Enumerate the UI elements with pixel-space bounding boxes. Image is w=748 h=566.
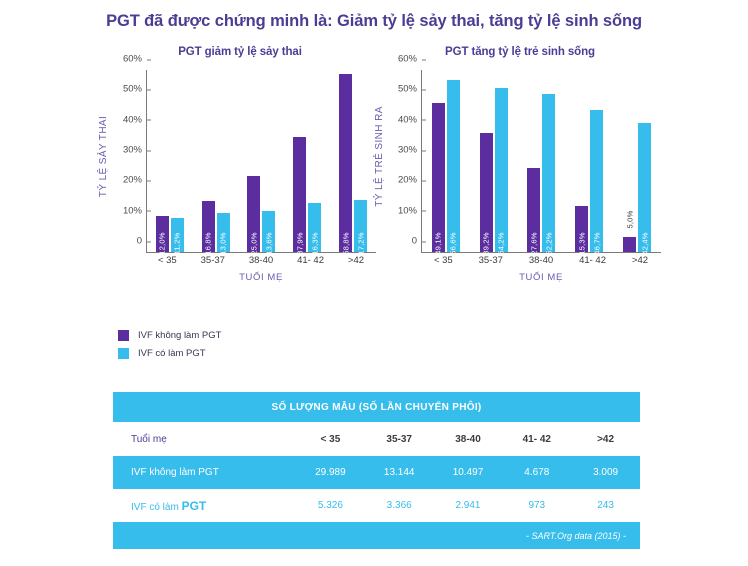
y-tick-60: 60% bbox=[398, 54, 422, 65]
legend-swatch-icon-purple bbox=[118, 330, 129, 341]
cell-age-4: >42 bbox=[571, 434, 640, 445]
miscarriage-x-label-4: >42 bbox=[348, 255, 364, 266]
livebirth-x-label-0: < 35 bbox=[434, 255, 453, 266]
row-label-pgt: IVF có làm PGT bbox=[113, 499, 296, 513]
miscarriage-group-0: 12,0%11,2% bbox=[156, 70, 184, 252]
miscarriage-bar-pgt-3: 16,3% bbox=[308, 203, 321, 252]
miscarriage-x-label-2: 38-40 bbox=[249, 255, 273, 266]
livebirth-x-label-4: >42 bbox=[632, 255, 648, 266]
cell-pgt-0: 5.326 bbox=[296, 500, 365, 511]
bar-group-container-miscarriage: 12,0%11,2%16,8%13,0%25,0%13,6%37,9%16,3%… bbox=[147, 70, 376, 252]
miscarriage-bar-no-pgt-3: 37,9% bbox=[293, 137, 306, 252]
livebirth-bar-pgt-4: 42,4% bbox=[638, 123, 651, 252]
livebirth-value-label-no-pgt-1: 39,2% bbox=[482, 232, 491, 255]
cell-no-pgt-1: 13.144 bbox=[365, 467, 434, 478]
livebirth-bar-pgt-0: 56,6% bbox=[447, 80, 460, 252]
legend-label-pgt: IVF có làm PGT bbox=[138, 348, 206, 359]
legend-label-no-pgt: IVF không làm PGT bbox=[138, 330, 221, 341]
sample-size-table: SỐ LƯỢNG MẪU (SỐ LẦN CHUYỂN PHÔI) Tuổi m… bbox=[113, 392, 640, 549]
miscarriage-bar-pgt-4: 17,2% bbox=[354, 200, 367, 252]
livebirth-bar-pgt-3: 46,7% bbox=[590, 110, 603, 252]
livebirth-bar-no-pgt-3: 15,3% bbox=[575, 206, 588, 252]
y-tick-0: 0 bbox=[412, 236, 422, 247]
miscarriage-value-label-pgt-0: 11,2% bbox=[173, 233, 182, 255]
livebirth-bar-no-pgt-0: 49,1% bbox=[432, 103, 445, 252]
y-tick-0: 0 bbox=[137, 236, 147, 247]
livebirth-value-label-no-pgt-0: 49,1% bbox=[434, 232, 443, 255]
legend-swatch-icon-cyan bbox=[118, 348, 129, 359]
cell-pgt-2: 2.941 bbox=[434, 500, 503, 511]
livebirth-value-label-pgt-1: 54,2% bbox=[497, 232, 506, 255]
cell-age-3: 41- 42 bbox=[502, 434, 571, 445]
livebirth-group-4: 5,0%42,4% bbox=[623, 70, 651, 252]
cell-no-pgt-3: 4.678 bbox=[502, 467, 571, 478]
cell-age-1: 35-37 bbox=[365, 434, 434, 445]
livebirth-value-label-no-pgt-3: 15,3% bbox=[577, 232, 586, 255]
y-tick-10: 10% bbox=[398, 205, 422, 216]
cell-no-pgt-4: 3.009 bbox=[571, 467, 640, 478]
livebirth-value-label-pgt-0: 56,6% bbox=[449, 232, 458, 255]
bar-group-container-livebirth: 49,1%56,6%39,2%54,2%27,6%52,2%15,3%46,7%… bbox=[422, 70, 661, 252]
cell-pgt-3: 973 bbox=[502, 500, 571, 511]
cell-age-0: < 35 bbox=[296, 434, 365, 445]
table-source-footer: - SART.Org data (2015) - bbox=[113, 522, 640, 549]
cell-no-pgt-2: 10.497 bbox=[434, 467, 503, 478]
miscarriage-value-label-pgt-3: 16,3% bbox=[310, 232, 319, 255]
x-axis-title-livebirth: TUỔI MẸ bbox=[421, 272, 661, 283]
y-tick-50: 50% bbox=[398, 84, 422, 95]
miscarriage-bar-pgt-2: 13,6% bbox=[262, 211, 275, 252]
cell-pgt-1: 3.366 bbox=[365, 500, 434, 511]
row-label-pgt-prefix: IVF có làm bbox=[131, 502, 182, 513]
livebirth-bar-no-pgt-1: 39,2% bbox=[480, 133, 493, 252]
livebirth-x-label-3: 41- 42 bbox=[579, 255, 606, 266]
x-axis-title-miscarriage: TUỔI MẸ bbox=[146, 272, 376, 283]
miscarriage-bar-pgt-1: 13,0% bbox=[217, 213, 230, 252]
miscarriage-group-2: 25,0%13,6% bbox=[247, 70, 275, 252]
cell-age-2: 38-40 bbox=[434, 434, 503, 445]
x-tick-labels-miscarriage: < 3535-3738-4041- 42>42 bbox=[146, 255, 376, 266]
y-tick-40: 40% bbox=[398, 114, 422, 125]
cell-pgt-4: 243 bbox=[571, 500, 640, 511]
y-tick-10: 10% bbox=[123, 205, 147, 216]
livebirth-bar-pgt-1: 54,2% bbox=[495, 88, 508, 252]
row-label-no-pgt: IVF không làm PGT bbox=[113, 467, 296, 478]
miscarriage-value-label-no-pgt-2: 25,0% bbox=[249, 232, 258, 255]
chart-legend: IVF không làm PGT IVF có làm PGT bbox=[118, 330, 221, 366]
miscarriage-bar-pgt-0: 11,2% bbox=[171, 218, 184, 252]
table-header: SỐ LƯỢNG MẪU (SỐ LẦN CHUYỂN PHÔI) bbox=[113, 392, 640, 422]
plot-area-miscarriage: TỶ LỆ SẢY THAI 0 10% 20% 30% 40% 50% 60%… bbox=[100, 64, 380, 304]
chart-panel-miscarriage: PGT giảm tỷ lệ sảy thai TỶ LỆ SẢY THAI 0… bbox=[100, 46, 380, 304]
miscarriage-group-1: 16,8%13,0% bbox=[202, 70, 230, 252]
miscarriage-x-label-0: < 35 bbox=[158, 255, 177, 266]
plot-area-livebirth: TỶ LỆ TRẺ SINH RA 0 10% 20% 30% 40% 50% … bbox=[375, 64, 665, 304]
miscarriage-value-label-no-pgt-0: 12,0% bbox=[158, 232, 167, 255]
miscarriage-value-label-pgt-4: 17,2% bbox=[356, 232, 365, 255]
livebirth-bar-no-pgt-2: 27,6% bbox=[527, 168, 540, 252]
miscarriage-value-label-pgt-2: 13,6% bbox=[264, 232, 273, 255]
livebirth-value-label-pgt-4: 42,4% bbox=[640, 232, 649, 255]
table-row-age: Tuổi mẹ < 35 35-37 38-40 41- 42 >42 bbox=[113, 422, 640, 456]
livebirth-x-label-1: 35-37 bbox=[479, 255, 503, 266]
miscarriage-value-label-no-pgt-4: 58,8% bbox=[341, 232, 350, 255]
y-tick-50: 50% bbox=[123, 84, 147, 95]
y-axis-title-miscarriage: TỶ LỆ SẢY THAI bbox=[96, 64, 112, 249]
miscarriage-x-label-3: 41- 42 bbox=[297, 255, 324, 266]
miscarriage-x-label-1: 35-37 bbox=[201, 255, 225, 266]
cell-no-pgt-0: 29.989 bbox=[296, 467, 365, 478]
table-row-no-pgt: IVF không làm PGT 29.989 13.144 10.497 4… bbox=[113, 456, 640, 489]
livebirth-group-0: 49,1%56,6% bbox=[432, 70, 460, 252]
miscarriage-value-label-no-pgt-3: 37,9% bbox=[295, 232, 304, 255]
y-tick-20: 20% bbox=[123, 175, 147, 186]
row-label-pgt-strong: PGT bbox=[182, 499, 207, 513]
y-tick-60: 60% bbox=[123, 54, 147, 65]
y-tick-30: 30% bbox=[123, 145, 147, 156]
miscarriage-bar-no-pgt-0: 12,0% bbox=[156, 216, 169, 252]
miscarriage-value-label-pgt-1: 13,0% bbox=[219, 232, 228, 255]
miscarriage-group-3: 37,9%16,3% bbox=[293, 70, 321, 252]
legend-item-pgt: IVF có làm PGT bbox=[118, 348, 221, 359]
y-tick-40: 40% bbox=[123, 114, 147, 125]
miscarriage-value-label-no-pgt-1: 16,8% bbox=[204, 232, 213, 255]
miscarriage-bar-no-pgt-2: 25,0% bbox=[247, 176, 260, 252]
y-axis-title-livebirth: TỶ LỆ TRẺ SINH RA bbox=[371, 64, 387, 249]
livebirth-group-1: 39,2%54,2% bbox=[480, 70, 508, 252]
livebirth-group-3: 15,3%46,7% bbox=[575, 70, 603, 252]
miscarriage-group-4: 58,8%17,2% bbox=[339, 70, 367, 252]
axes-miscarriage: 0 10% 20% 30% 40% 50% 60% 12,0%11,2%16,8… bbox=[146, 70, 376, 253]
axes-livebirth: 0 10% 20% 30% 40% 50% 60% 49,1%56,6%39,2… bbox=[421, 70, 661, 253]
y-tick-20: 20% bbox=[398, 175, 422, 186]
chart-panel-livebirth: PGT tăng tỷ lệ trẻ sinh sống TỶ LỆ TRẺ S… bbox=[375, 46, 665, 304]
page-title: PGT đã được chứng minh là: Giảm tỷ lệ sả… bbox=[0, 12, 748, 31]
livebirth-value-label-no-pgt-4: 5,0% bbox=[625, 210, 634, 228]
livebirth-value-label-no-pgt-2: 27,6% bbox=[529, 232, 538, 255]
x-tick-labels-livebirth: < 3535-3738-4041- 42>42 bbox=[421, 255, 661, 266]
livebirth-group-2: 27,6%52,2% bbox=[527, 70, 555, 252]
legend-item-no-pgt: IVF không làm PGT bbox=[118, 330, 221, 341]
row-label-age: Tuổi mẹ bbox=[113, 434, 296, 445]
livebirth-x-label-2: 38-40 bbox=[529, 255, 553, 266]
miscarriage-bar-no-pgt-1: 16,8% bbox=[202, 201, 215, 252]
table-row-pgt: IVF có làm PGT 5.326 3.366 2.941 973 243 bbox=[113, 489, 640, 522]
livebirth-value-label-pgt-2: 52,2% bbox=[544, 232, 553, 255]
y-tick-30: 30% bbox=[398, 145, 422, 156]
livebirth-bar-pgt-2: 52,2% bbox=[542, 94, 555, 252]
livebirth-bar-no-pgt-4: 5,0% bbox=[623, 237, 636, 252]
miscarriage-bar-no-pgt-4: 58,8% bbox=[339, 74, 352, 252]
livebirth-value-label-pgt-3: 46,7% bbox=[592, 232, 601, 255]
